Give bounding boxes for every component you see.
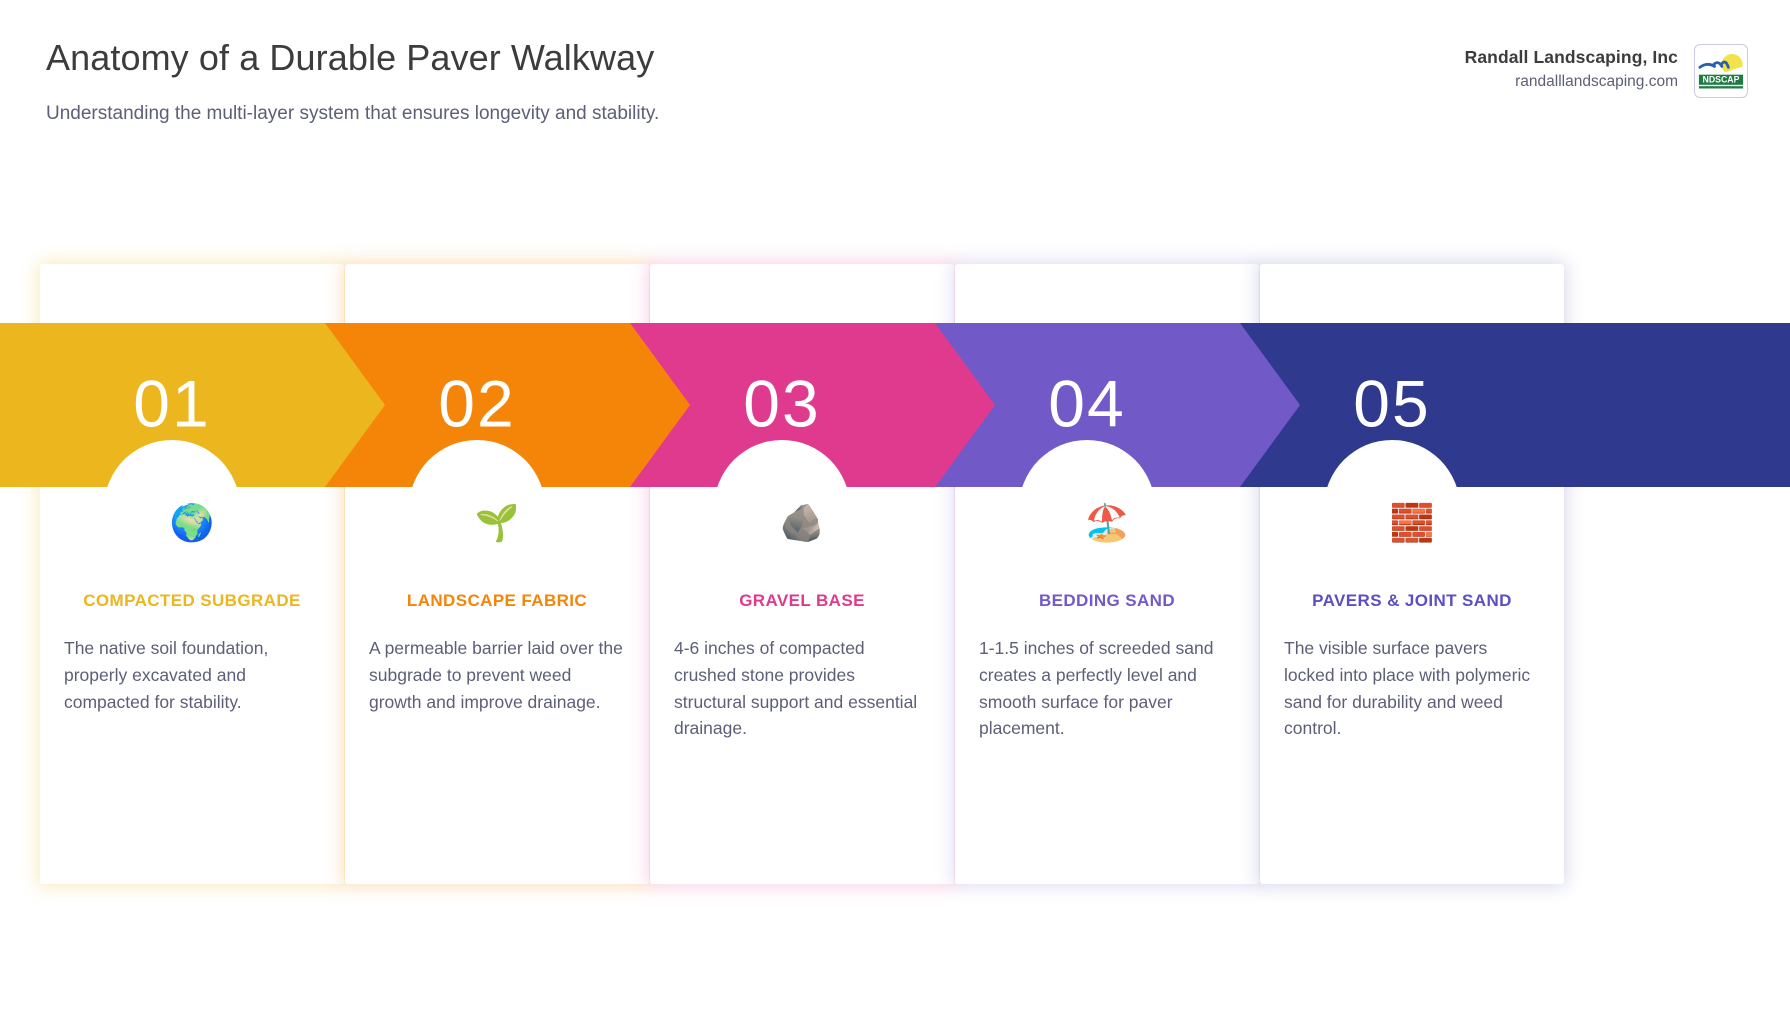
- brand-name: Randall Landscaping, Inc: [1465, 47, 1678, 68]
- brand-block: Randall Landscaping, Inc randalllandscap…: [1465, 44, 1748, 98]
- chevron-number-05: 05: [1353, 366, 1430, 440]
- step-card-title: BEDDING SAND: [979, 588, 1235, 614]
- step-card-title: COMPACTED SUBGRADE: [64, 588, 320, 614]
- step-card-title: PAVERS & JOINT SAND: [1284, 588, 1540, 614]
- page-subtitle: Understanding the multi-layer system tha…: [46, 100, 676, 128]
- globe-showing-europe-africa-icon: 🌍: [64, 502, 320, 548]
- chevron-number-04: 04: [1048, 366, 1125, 440]
- seedling-icon: 🌱: [369, 502, 625, 548]
- step-card-description: A permeable barrier laid over the subgra…: [369, 635, 625, 715]
- step-card-body: 🌍 COMPACTED SUBGRADE The native soil fou…: [40, 502, 344, 715]
- step-card-description: The native soil foundation, properly exc…: [64, 635, 320, 715]
- randall-landscaping-logo-icon: NDSCAP: [1694, 44, 1748, 98]
- step-card-body: 🧱 PAVERS & JOINT SAND The visible surfac…: [1260, 502, 1564, 742]
- chevron-number-01: 01: [133, 366, 210, 440]
- step-card-body: 🪨 GRAVEL BASE 4-6 inches of compacted cr…: [650, 502, 954, 742]
- step-card-description: 4-6 inches of compacted crushed stone pr…: [674, 635, 930, 741]
- rock-icon: 🪨: [674, 502, 930, 548]
- infographic-root: Anatomy of a Durable Paver Walkway Under…: [0, 0, 1790, 1024]
- beach-with-umbrella-icon: 🏖️: [979, 502, 1235, 548]
- step-card-description: The visible surface pavers locked into p…: [1284, 635, 1540, 741]
- header: Anatomy of a Durable Paver Walkway Under…: [0, 0, 1790, 230]
- step-card-title: GRAVEL BASE: [674, 588, 930, 614]
- brick-icon: 🧱: [1284, 502, 1540, 548]
- chevron-step-band: 01 02 03 04 05: [0, 323, 1790, 487]
- brand-website: randalllandscaping.com: [1465, 73, 1678, 91]
- chevron-number-02: 02: [438, 366, 515, 440]
- svg-text:NDSCAP: NDSCAP: [1703, 75, 1740, 85]
- step-card-title: LANDSCAPE FABRIC: [369, 588, 625, 614]
- step-card-description: 1-1.5 inches of screeded sand creates a …: [979, 635, 1235, 741]
- step-card-body: 🌱 LANDSCAPE FABRIC A permeable barrier l…: [345, 502, 649, 715]
- step-card-body: 🏖️ BEDDING SAND 1-1.5 inches of screeded…: [955, 502, 1259, 742]
- title-block: Anatomy of a Durable Paver Walkway Under…: [46, 34, 746, 127]
- brand-text: Randall Landscaping, Inc randalllandscap…: [1465, 44, 1678, 91]
- chevron-number-03: 03: [743, 366, 820, 440]
- page-title: Anatomy of a Durable Paver Walkway: [46, 34, 746, 82]
